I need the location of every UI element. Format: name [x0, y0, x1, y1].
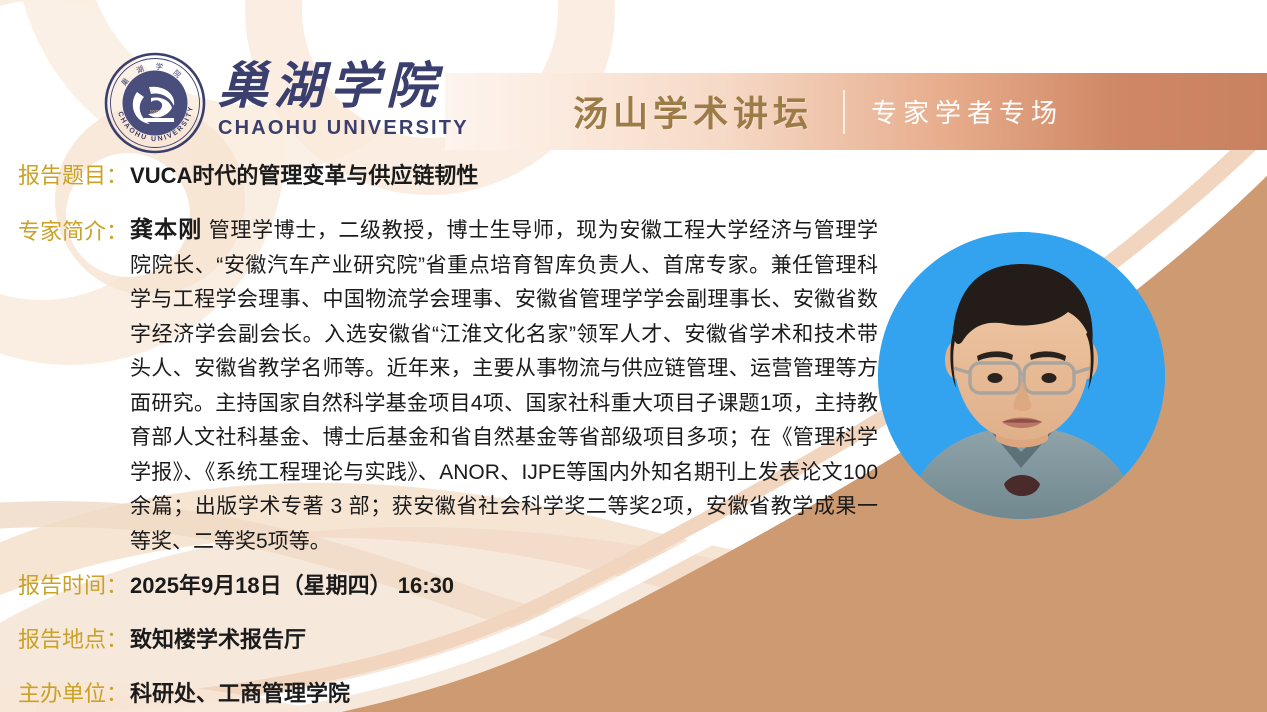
banner-strip: 汤山学术讲坛 专家学者专场 — [445, 73, 1267, 150]
banner-subtitle: 专家学者专场 — [871, 93, 1063, 130]
value-report-title: VUCA时代的管理变革与供应链韧性 — [130, 158, 478, 190]
avatar — [878, 232, 1165, 519]
university-name-group: 巢湖学院 CHAOHU UNIVERSITY — [218, 58, 469, 140]
label-report-place: 报告地点： — [18, 622, 128, 654]
banner-divider — [843, 90, 845, 134]
portrait-illustration — [878, 232, 1165, 519]
row-speaker-bio: 专家简介： 龚本刚 管理学博士，二级教授，博士生导师，现为安徽工程大学经济与管理… — [18, 212, 878, 559]
speaker-bio-paragraph: 管理学博士，二级教授，博士生导师，现为安徽工程大学经济与管理学院院长、“安徽汽车… — [130, 219, 878, 553]
row-report-title: 报告题目： VUCA时代的管理变革与供应链韧性 — [18, 158, 478, 190]
university-logo-block: 1977 巢 湖 学 院 CHAOHU UNIVERSITY 巢湖学院 CHAO… — [104, 52, 469, 154]
label-report-time: 报告时间： — [18, 568, 128, 600]
university-name-en: CHAOHU UNIVERSITY — [218, 116, 469, 140]
label-speaker-bio: 专家简介： — [18, 212, 128, 246]
speaker-name: 龚本刚 — [130, 216, 202, 242]
banner-main-title: 汤山学术讲坛 — [573, 86, 813, 137]
university-name-cn: 巢湖学院 — [218, 58, 469, 114]
value-report-time: 2025年9月18日（星期四） 16:30 — [130, 568, 454, 600]
row-report-place: 报告地点： 致知楼学术报告厅 — [18, 622, 306, 654]
row-organizer: 主办单位： 科研处、工商管理学院 — [18, 676, 350, 708]
university-seal-icon: 1977 巢 湖 学 院 CHAOHU UNIVERSITY — [104, 52, 206, 154]
seal-year-text: 1977 — [149, 110, 160, 116]
value-report-place: 致知楼学术报告厅 — [130, 622, 306, 654]
poster-canvas: 汤山学术讲坛 专家学者专场 1977 巢 湖 学 院 — [0, 0, 1267, 712]
label-organizer: 主办单位： — [18, 676, 128, 708]
value-organizer: 科研处、工商管理学院 — [130, 676, 350, 708]
row-report-time: 报告时间： 2025年9月18日（星期四） 16:30 — [18, 568, 454, 600]
label-report-title: 报告题目： — [18, 158, 128, 190]
speaker-bio-text: 龚本刚 管理学博士，二级教授，博士生导师，现为安徽工程大学经济与管理学院院长、“… — [130, 212, 878, 559]
